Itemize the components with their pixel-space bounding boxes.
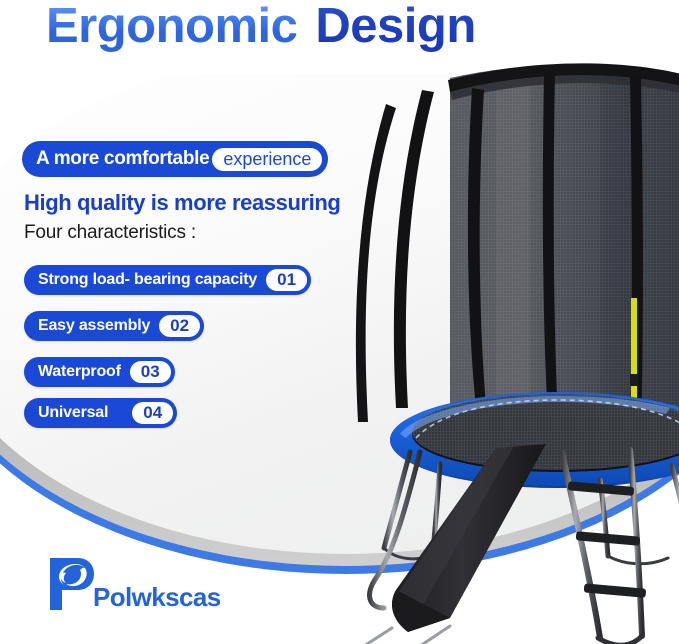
headline-pill: A more comfortable experience — [22, 141, 328, 177]
feature-label: Easy assembly — [38, 317, 150, 335]
product-marketing-poster: ErgonomicDesign A more comfortable exper… — [0, 0, 679, 644]
feature-pill-2: Easy assembly 02 — [24, 311, 204, 341]
feature-number-badge: 02 — [159, 315, 200, 337]
headline-pill-lead: A more comfortable — [36, 148, 209, 170]
feature-label: Strong load- bearing capacity — [38, 271, 257, 289]
zipper-strip — [631, 298, 637, 378]
title-word-1: Ergonomic — [46, 0, 297, 53]
feature-pill-1: Strong load- bearing capacity 01 — [24, 265, 311, 295]
feature-pill-3: Waterproof 03 — [24, 357, 175, 387]
headline-pill-highlight: experience — [210, 146, 324, 173]
subheadline: High quality is more reassuring — [24, 190, 340, 216]
feature-number-badge: 03 — [130, 361, 171, 383]
feature-pill-4: Universal 04 — [24, 398, 177, 428]
title-word-2: Design — [315, 0, 475, 53]
page-title: ErgonomicDesign — [46, 0, 476, 54]
net-pole-outer — [394, 90, 434, 408]
net-pole-outer — [356, 104, 396, 422]
feature-label: Waterproof — [38, 363, 121, 381]
characteristics-lead-line: Four characteristics : — [24, 222, 196, 244]
feature-number-badge: 04 — [132, 402, 173, 424]
dolphin-in-p-icon — [48, 556, 96, 612]
product-image-trampoline — [300, 48, 679, 644]
feature-label: Universal — [38, 404, 108, 422]
brand-name: Polwkscas — [93, 582, 221, 613]
brand-logo: Polwkscas — [48, 556, 221, 612]
feature-number-badge: 01 — [266, 269, 307, 291]
